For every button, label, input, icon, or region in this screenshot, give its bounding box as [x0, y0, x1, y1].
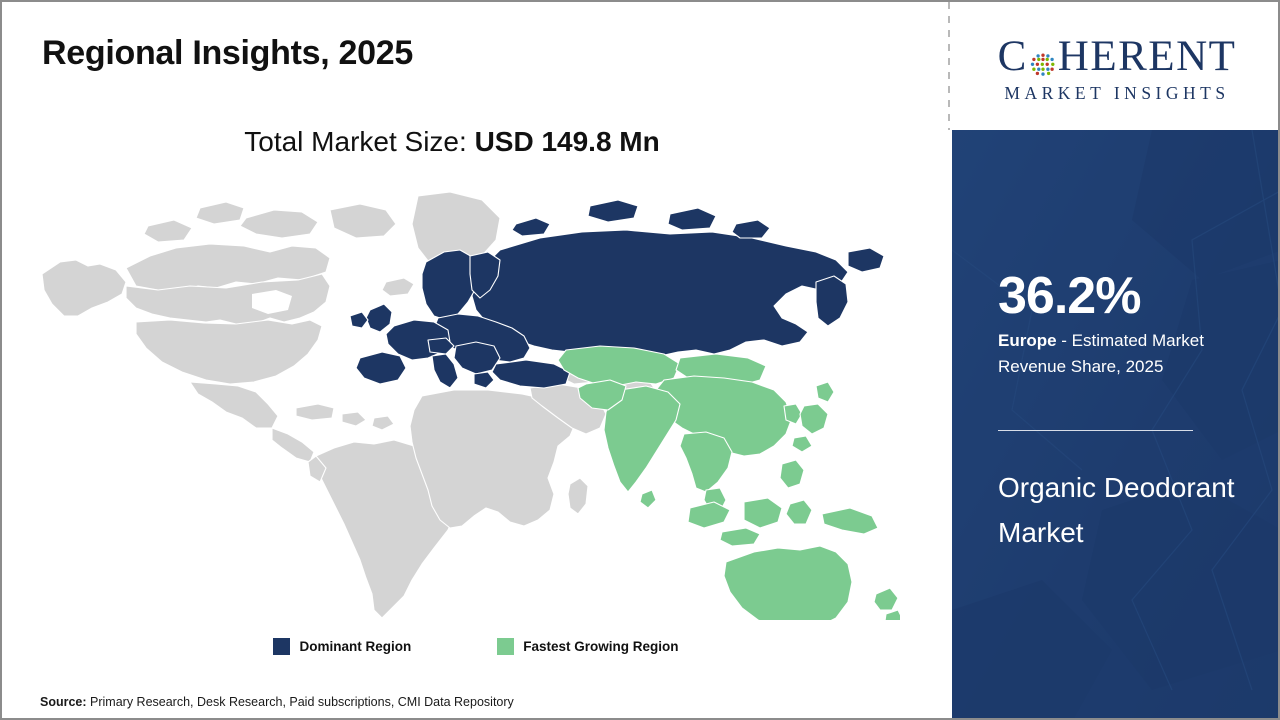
legend-swatch-dominant: [273, 638, 290, 655]
left-content-column: Regional Insights, 2025 Total Market Siz…: [2, 2, 950, 720]
logo-tagline: MARKET INSIGHTS: [1004, 83, 1229, 104]
infographic-slide: Regional Insights, 2025 Total Market Siz…: [0, 0, 1280, 720]
vertical-dashed-divider: [948, 2, 950, 130]
legend-label-fastest-growing: Fastest Growing Region: [523, 639, 678, 654]
stat-percentage: 36.2%: [998, 270, 1140, 322]
market-name: Organic Deodorant Market: [998, 465, 1238, 556]
source-text: Primary Research, Desk Research, Paid su…: [87, 695, 514, 709]
logo-letter-c: C: [998, 35, 1028, 78]
market-size-label: Total Market Size:: [244, 126, 474, 157]
brand-logo: C: [952, 2, 1280, 130]
source-note: Source: Primary Research, Desk Research,…: [40, 695, 514, 709]
world-map-svg: [30, 190, 900, 620]
map-legend: Dominant Region Fastest Growing Region: [2, 638, 950, 655]
total-market-size: Total Market Size: USD 149.8 Mn: [2, 126, 902, 158]
stat-caption: Europe - Estimated Market Revenue Share,…: [998, 328, 1248, 379]
legend-label-dominant: Dominant Region: [299, 639, 411, 654]
legend-swatch-fastest-growing: [497, 638, 514, 655]
logo-wordmark-rest: HERENT: [1058, 35, 1237, 78]
stat-region-name: Europe: [998, 331, 1057, 350]
panel-divider-rule: [998, 430, 1193, 431]
page-title: Regional Insights, 2025: [42, 34, 413, 73]
logo-wordmark: C: [998, 35, 1237, 78]
regional-stat-panel: 36.2% Europe - Estimated Market Revenue …: [952, 130, 1280, 720]
source-label: Source:: [40, 695, 87, 709]
dotted-globe-icon: [1029, 44, 1057, 72]
legend-item-dominant: Dominant Region: [273, 638, 411, 655]
legend-item-fastest-growing: Fastest Growing Region: [497, 638, 678, 655]
world-map: [30, 190, 900, 620]
panel-content: 36.2% Europe - Estimated Market Revenue …: [998, 130, 1268, 720]
map-region-fastest-growing: [558, 346, 900, 620]
market-size-value: USD 149.8 Mn: [475, 126, 660, 157]
